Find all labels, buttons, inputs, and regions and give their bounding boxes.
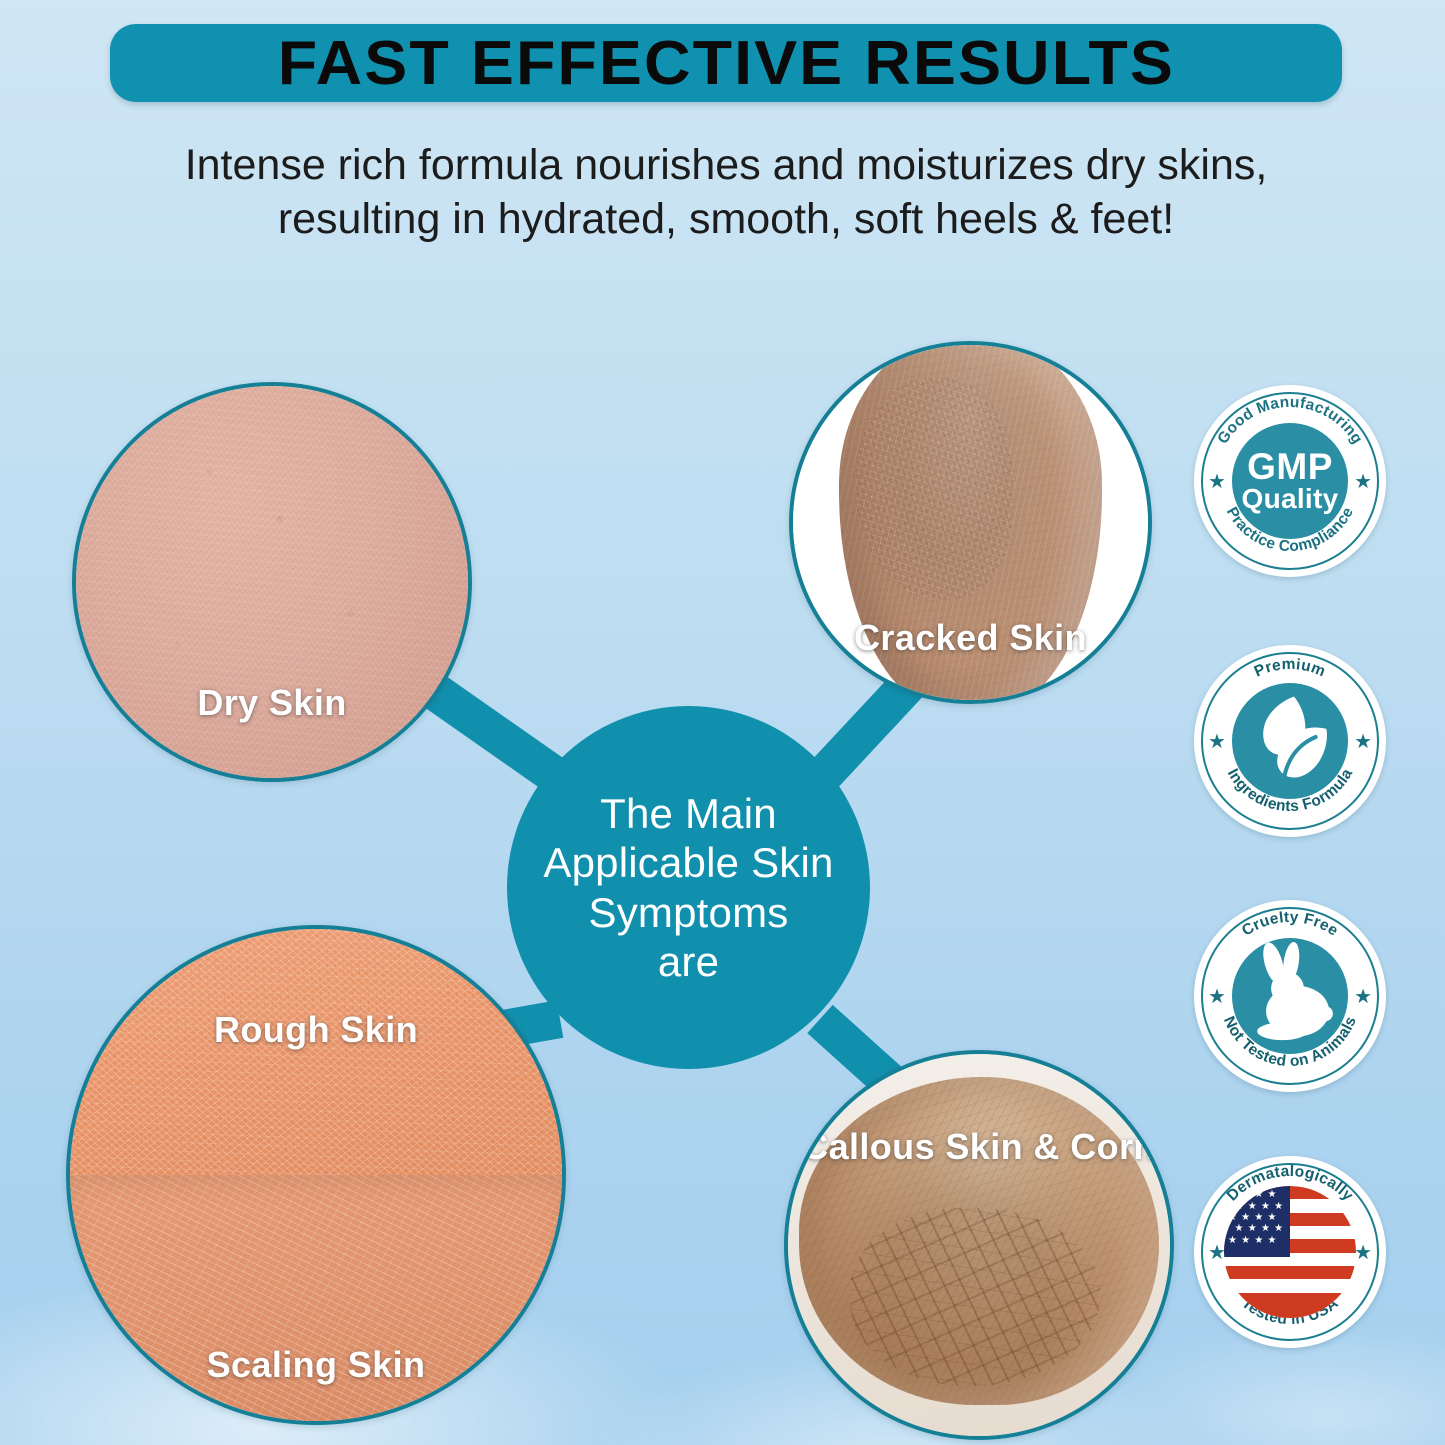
gmp-center-line1: GMP: [1247, 449, 1333, 485]
rabbit-icon: [1194, 938, 1386, 1054]
scaling-skin-texture: [70, 1175, 562, 1421]
symptom-circle-rough-scaling-skin[interactable]: Rough Skin Scaling Skin: [66, 925, 566, 1425]
rough-skin-texture: [70, 929, 562, 1175]
badge-top-text: Cruelty Free: [1239, 909, 1341, 940]
leaf-icon: [1194, 683, 1386, 799]
badge-cruelty-free: Cruelty Free Not Tested on Animals ★ ★: [1194, 900, 1386, 1092]
callous-skin-backdrop: [788, 1054, 1170, 1436]
cracked-heel-image: [839, 341, 1102, 704]
callous-heel-image: [799, 1077, 1158, 1406]
badge-gmp: Good Manufacturing Practice Compliance ★…: [1194, 385, 1386, 577]
badge-inner-premium: [1232, 683, 1348, 799]
star-icon: ★: [1354, 1243, 1372, 1263]
infographic-page: FAST EFFECTIVE RESULTS Intense rich form…: [0, 0, 1445, 1445]
dry-skin-texture: [76, 386, 468, 778]
cracked-skin-backdrop: [793, 345, 1148, 700]
gmp-center-line2: Quality: [1241, 484, 1338, 513]
badge-top-text: Premium: [1252, 656, 1328, 681]
symptom-circle-callous-skin[interactable]: Callous Skin & Corn: [784, 1050, 1174, 1440]
symptom-circle-dry-skin[interactable]: Dry Skin: [72, 382, 472, 782]
badge-usa-tested: Dermatalogically Tested in USA ★ ★ ★★ ★★…: [1194, 1156, 1386, 1348]
center-hub-text: The Main Applicable Skin Symptoms are: [525, 789, 851, 986]
badge-inner-cruelty: [1232, 938, 1348, 1054]
usa-flag-icon: ★★ ★★ ★★ ★★ ★★ ★★ ★★ ★★ ★★ ★★: [1224, 1186, 1356, 1318]
star-icon: ★: [1208, 472, 1226, 492]
badge-premium-ingredients: Premium Ingredients Formula ★ ★: [1194, 645, 1386, 837]
badge-inner-gmp: GMP Quality: [1232, 423, 1348, 539]
star-icon: ★: [1354, 472, 1372, 492]
flag-canton: ★★ ★★ ★★ ★★ ★★ ★★ ★★ ★★ ★★ ★★: [1224, 1186, 1290, 1257]
symptom-circle-cracked-skin[interactable]: Cracked Skin: [789, 341, 1152, 704]
